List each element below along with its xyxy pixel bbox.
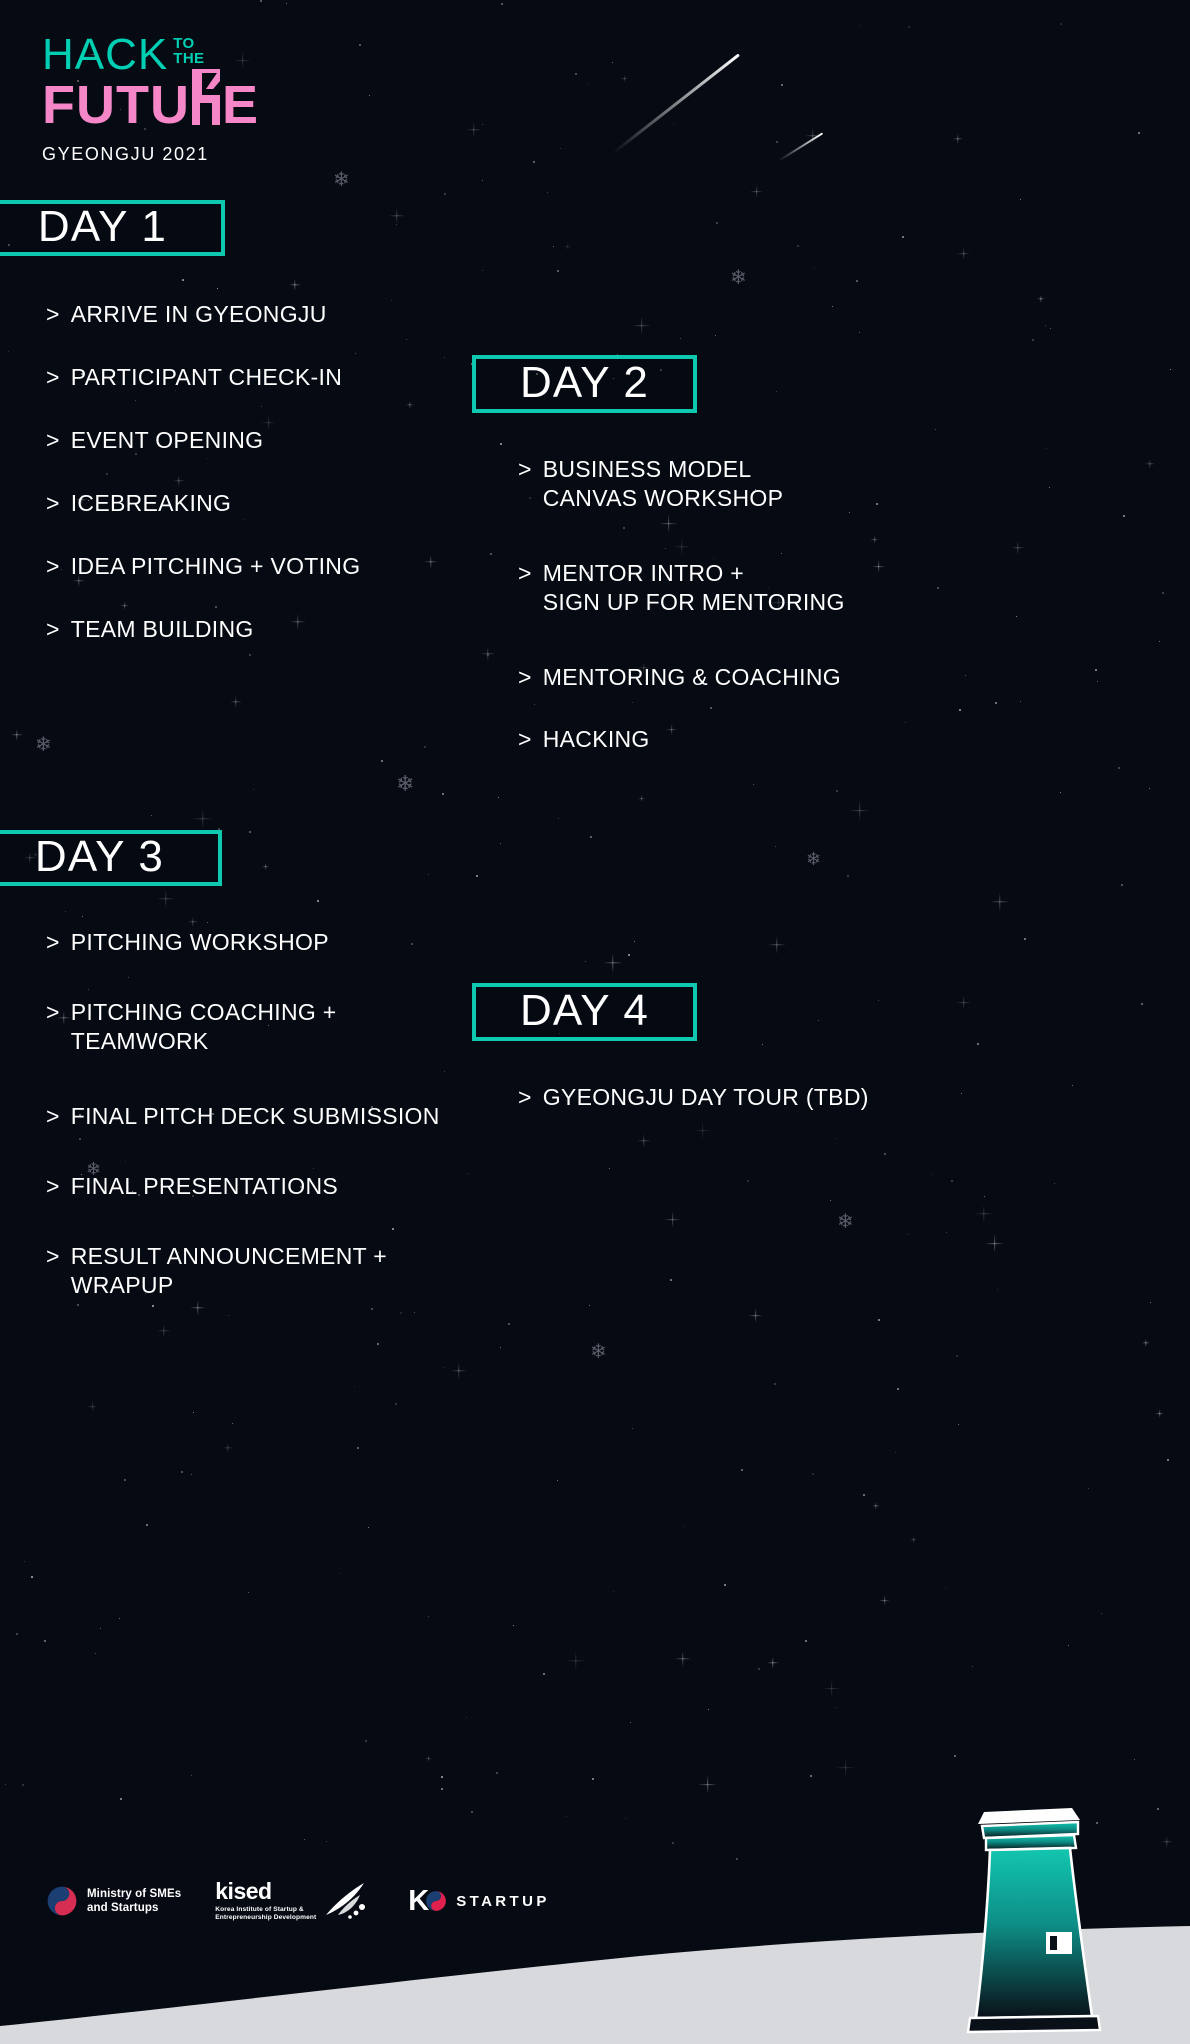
day-3-title: DAY 3 <box>35 835 190 882</box>
logo-to-the-text: TO THE <box>173 36 204 66</box>
agenda-item-text: TEAM BUILDING <box>71 615 254 644</box>
agenda-item-text: ARRIVE IN GYEONGJU <box>71 300 327 329</box>
taegeuk-icon <box>46 1885 78 1917</box>
bullet-caret-icon: > <box>46 363 60 392</box>
list-item: >GYEONGJU DAY TOUR (TBD) <box>518 1083 948 1112</box>
bullet-caret-icon: > <box>46 928 60 957</box>
logo-to-text: TO <box>173 36 204 51</box>
list-item: >FINAL PITCH DECK SUBMISSION <box>46 1102 486 1131</box>
bullet-caret-icon: > <box>518 559 532 588</box>
list-item: >RESULT ANNOUNCEMENT + WRAPUP <box>46 1242 486 1300</box>
k-startup-word: STARTUP <box>456 1893 550 1910</box>
day-4-title: DAY 4 <box>520 989 649 1036</box>
bullet-caret-icon: > <box>46 998 60 1027</box>
bullet-caret-icon: > <box>46 300 60 329</box>
logo-future-text: FUTU E <box>42 78 259 132</box>
agenda-item-text: RESULT ANNOUNCEMENT + WRAPUP <box>71 1242 387 1300</box>
day-3-agenda-list: >PITCHING WORKSHOP >PITCHING COACHING + … <box>46 928 486 1334</box>
list-item: >TEAM BUILDING <box>46 615 466 644</box>
agenda-item-text: MENTORING & COACHING <box>543 663 841 692</box>
kised-wordmark: kised <box>215 1880 316 1903</box>
day-3-header: DAY 3 <box>0 830 222 886</box>
day-2-agenda-list: >BUSINESS MODEL CANVAS WORKSHOP >MENTOR … <box>518 455 948 787</box>
sponsor-logos: Ministry of SMEsand Startups kised Korea… <box>46 1880 550 1922</box>
ministry-label: Ministry of SMEsand Startups <box>87 1887 181 1915</box>
list-item: >MENTOR INTRO + SIGN UP FOR MENTORING <box>518 559 948 617</box>
logo-future-main: FUTU <box>42 78 190 132</box>
agenda-item-text: PITCHING COACHING + TEAMWORK <box>71 998 337 1056</box>
agenda-item-text: PITCHING WORKSHOP <box>71 928 329 957</box>
bullet-caret-icon: > <box>518 455 532 484</box>
day-4-header: DAY 4 <box>472 983 697 1041</box>
bullet-caret-icon: > <box>46 426 60 455</box>
observatory-tower-illustration <box>960 1804 1110 2034</box>
bullet-caret-icon: > <box>46 1102 60 1131</box>
kised-sub-line-1: Korea Institute of Startup & <box>215 1906 316 1914</box>
event-logo: HACK TO THE FUTU E GYEONGJU 2021 <box>42 34 259 165</box>
agenda-item-text: IDEA PITCHING + VOTING <box>71 552 361 581</box>
kised-sub-line-2: Entrepreneurship Development <box>215 1914 316 1922</box>
bullet-caret-icon: > <box>46 1242 60 1271</box>
logo-the-text: THE <box>173 51 204 66</box>
agenda-item-text: MENTOR INTRO + SIGN UP FOR MENTORING <box>543 559 845 617</box>
list-item: >PITCHING COACHING + TEAMWORK <box>46 998 486 1056</box>
day-4-agenda-list: >GYEONGJU DAY TOUR (TBD) <box>518 1083 948 1145</box>
shooting-star-icon <box>612 53 740 154</box>
bullet-caret-icon: > <box>518 725 532 754</box>
agenda-item-text: BUSINESS MODEL CANVAS WORKSHOP <box>543 455 784 513</box>
bullet-caret-icon: > <box>46 489 60 518</box>
list-item: >EVENT OPENING <box>46 426 466 455</box>
day-1-title: DAY 1 <box>38 205 193 252</box>
agenda-item-text: EVENT OPENING <box>71 426 264 455</box>
day-1-agenda-list: >ARRIVE IN GYEONGJU >PARTICIPANT CHECK-I… <box>46 300 466 678</box>
bullet-caret-icon: > <box>518 1083 532 1112</box>
logo-hack-text: HACK <box>42 34 168 76</box>
agenda-item-text: PARTICIPANT CHECK-IN <box>71 363 342 392</box>
shooting-star-icon <box>778 132 823 161</box>
ministry-of-smes-logo: Ministry of SMEsand Startups <box>46 1885 181 1917</box>
agenda-item-text: FINAL PITCH DECK SUBMISSION <box>71 1102 440 1131</box>
agenda-item-text: ICEBREAKING <box>71 489 232 518</box>
bullet-caret-icon: > <box>46 552 60 581</box>
day-2-header: DAY 2 <box>472 355 697 413</box>
logo-location-year: GYEONGJU 2021 <box>42 144 259 165</box>
day-2-title: DAY 2 <box>520 361 649 408</box>
list-item: >ARRIVE IN GYEONGJU <box>46 300 466 329</box>
wing-icon <box>320 1881 372 1921</box>
list-item: >PARTICIPANT CHECK-IN <box>46 363 466 392</box>
bullet-caret-icon: > <box>518 663 532 692</box>
kised-subtitle: Korea Institute of Startup &Entrepreneur… <box>215 1906 316 1922</box>
ministry-line-1: Ministry of SMEs <box>87 1887 181 1901</box>
k-startup-taegeuk-icon <box>425 1890 447 1912</box>
logo-future-tail: E <box>222 78 259 132</box>
agenda-item-text: FINAL PRESENTATIONS <box>71 1172 338 1201</box>
list-item: >MENTORING & COACHING <box>518 663 948 692</box>
ministry-line-2: and Startups <box>87 1901 181 1915</box>
list-item: >PITCHING WORKSHOP <box>46 928 486 957</box>
bullet-caret-icon: > <box>46 615 60 644</box>
agenda-item-text: HACKING <box>543 725 650 754</box>
list-item: >BUSINESS MODEL CANVAS WORKSHOP <box>518 455 948 513</box>
day-1-header: DAY 1 <box>0 200 225 256</box>
list-item: >ICEBREAKING <box>46 489 466 518</box>
agenda-item-text: GYEONGJU DAY TOUR (TBD) <box>543 1083 869 1112</box>
logo-top-row: HACK TO THE <box>42 34 259 76</box>
kised-logo: kised Korea Institute of Startup &Entrep… <box>215 1880 372 1922</box>
k-startup-logo: K STARTUP <box>408 1887 549 1916</box>
bullet-caret-icon: > <box>46 1172 60 1201</box>
list-item: >HACKING <box>518 725 948 754</box>
list-item: >FINAL PRESENTATIONS <box>46 1172 486 1201</box>
list-item: >IDEA PITCHING + VOTING <box>46 552 466 581</box>
